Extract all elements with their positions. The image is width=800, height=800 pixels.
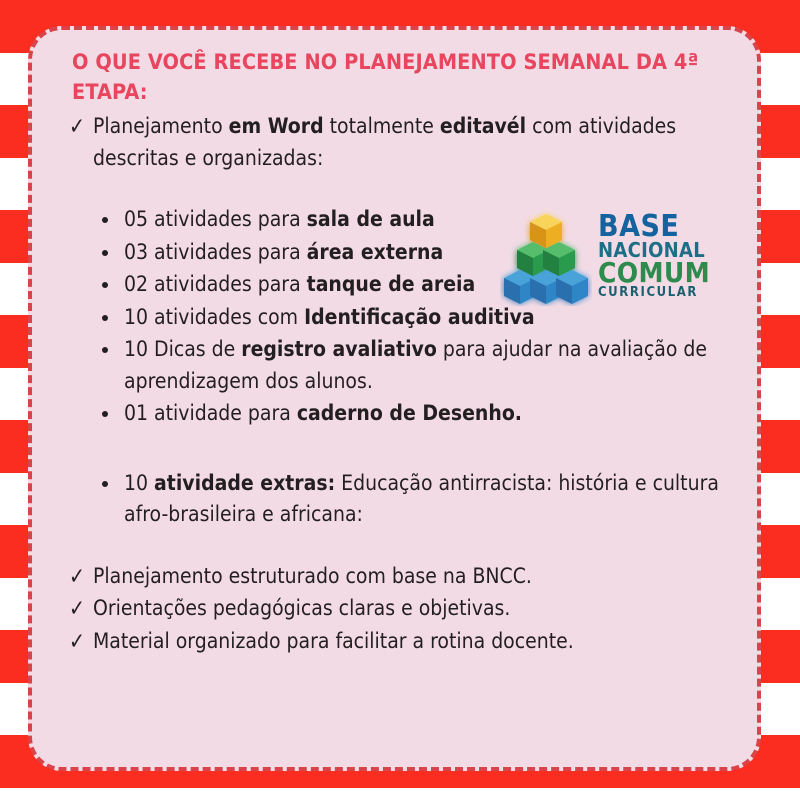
list-item: 05 atividades para sala de aula bbox=[96, 204, 731, 236]
check-icon: ✓ bbox=[69, 593, 92, 626]
list-item-text-bold: caderno de Desenho. bbox=[297, 401, 522, 425]
list-item: 10 Dicas de registro avaliativo para aju… bbox=[96, 334, 731, 397]
content-card: O QUE VOCÊ RECEBE NO PLANEJAMENTO SEMANA… bbox=[28, 26, 761, 771]
deliverables-list: 05 atividades para sala de aula03 ativid… bbox=[96, 204, 731, 531]
intro-text-mid: totalmente bbox=[324, 114, 440, 138]
intro-text-bold-2: editavél bbox=[440, 114, 526, 138]
footer-check-line: ✓Material organizado para facilitar a ro… bbox=[54, 626, 731, 659]
list-item-text-bold: área externa bbox=[307, 240, 444, 264]
list-item: 10 atividade extras: Educação antirracis… bbox=[96, 468, 731, 531]
intro-text-pre: Planejamento bbox=[93, 114, 229, 138]
intro-check-line: ✓ Planejamento em Word totalmente editav… bbox=[54, 111, 731, 174]
list-item: 02 atividades para tanque de areia bbox=[96, 269, 731, 301]
footer-check-line: ✓Planejamento estruturado com base na BN… bbox=[54, 561, 731, 594]
intro-text-bold-1: em Word bbox=[229, 114, 324, 138]
list-item-text-pre: 02 atividades para bbox=[124, 272, 307, 296]
list-item: 10 atividades com Identificação auditiva bbox=[96, 302, 731, 334]
check-icon: ✓ bbox=[69, 561, 92, 594]
list-item-text-pre: 01 atividade para bbox=[124, 401, 297, 425]
footer-check-text: Planejamento estruturado com base na BNC… bbox=[93, 561, 731, 593]
footer-check-text: Orientações pedagógicas claras e objetiv… bbox=[93, 593, 731, 625]
list-item-text-pre: 10 bbox=[124, 471, 154, 495]
list-item: 03 atividades para área externa bbox=[96, 237, 731, 269]
intro-check-text: Planejamento em Word totalmente editavél… bbox=[93, 111, 703, 174]
list-item-text-bold: atividade extras: bbox=[154, 471, 335, 495]
intro-check-block: ✓ Planejamento em Word totalmente editav… bbox=[54, 111, 731, 174]
footer-check-text: Material organizado para facilitar a rot… bbox=[93, 626, 731, 658]
list-item-text-pre: 03 atividades para bbox=[124, 240, 307, 264]
list-item-text-bold: Identificação auditiva bbox=[304, 305, 535, 329]
list-item-text-bold: sala de aula bbox=[307, 207, 435, 231]
list-item-text-pre: 10 atividades com bbox=[124, 305, 304, 329]
footer-check-line: ✓Orientações pedagógicas claras e objeti… bbox=[54, 593, 731, 626]
list-item: 01 atividade para caderno de Desenho. bbox=[96, 398, 731, 430]
page-title: O QUE VOCÊ RECEBE NO PLANEJAMENTO SEMANA… bbox=[72, 48, 712, 107]
list-item-text-bold: registro avaliativo bbox=[241, 337, 437, 361]
footer-check-block: ✓Planejamento estruturado com base na BN… bbox=[54, 561, 731, 659]
list-item-text-pre: 05 atividades para bbox=[124, 207, 307, 231]
check-icon: ✓ bbox=[69, 111, 92, 144]
list-item-text-pre: 10 Dicas de bbox=[124, 337, 241, 361]
check-icon: ✓ bbox=[69, 626, 92, 659]
list-item-text-bold: tanque de areia bbox=[307, 272, 476, 296]
